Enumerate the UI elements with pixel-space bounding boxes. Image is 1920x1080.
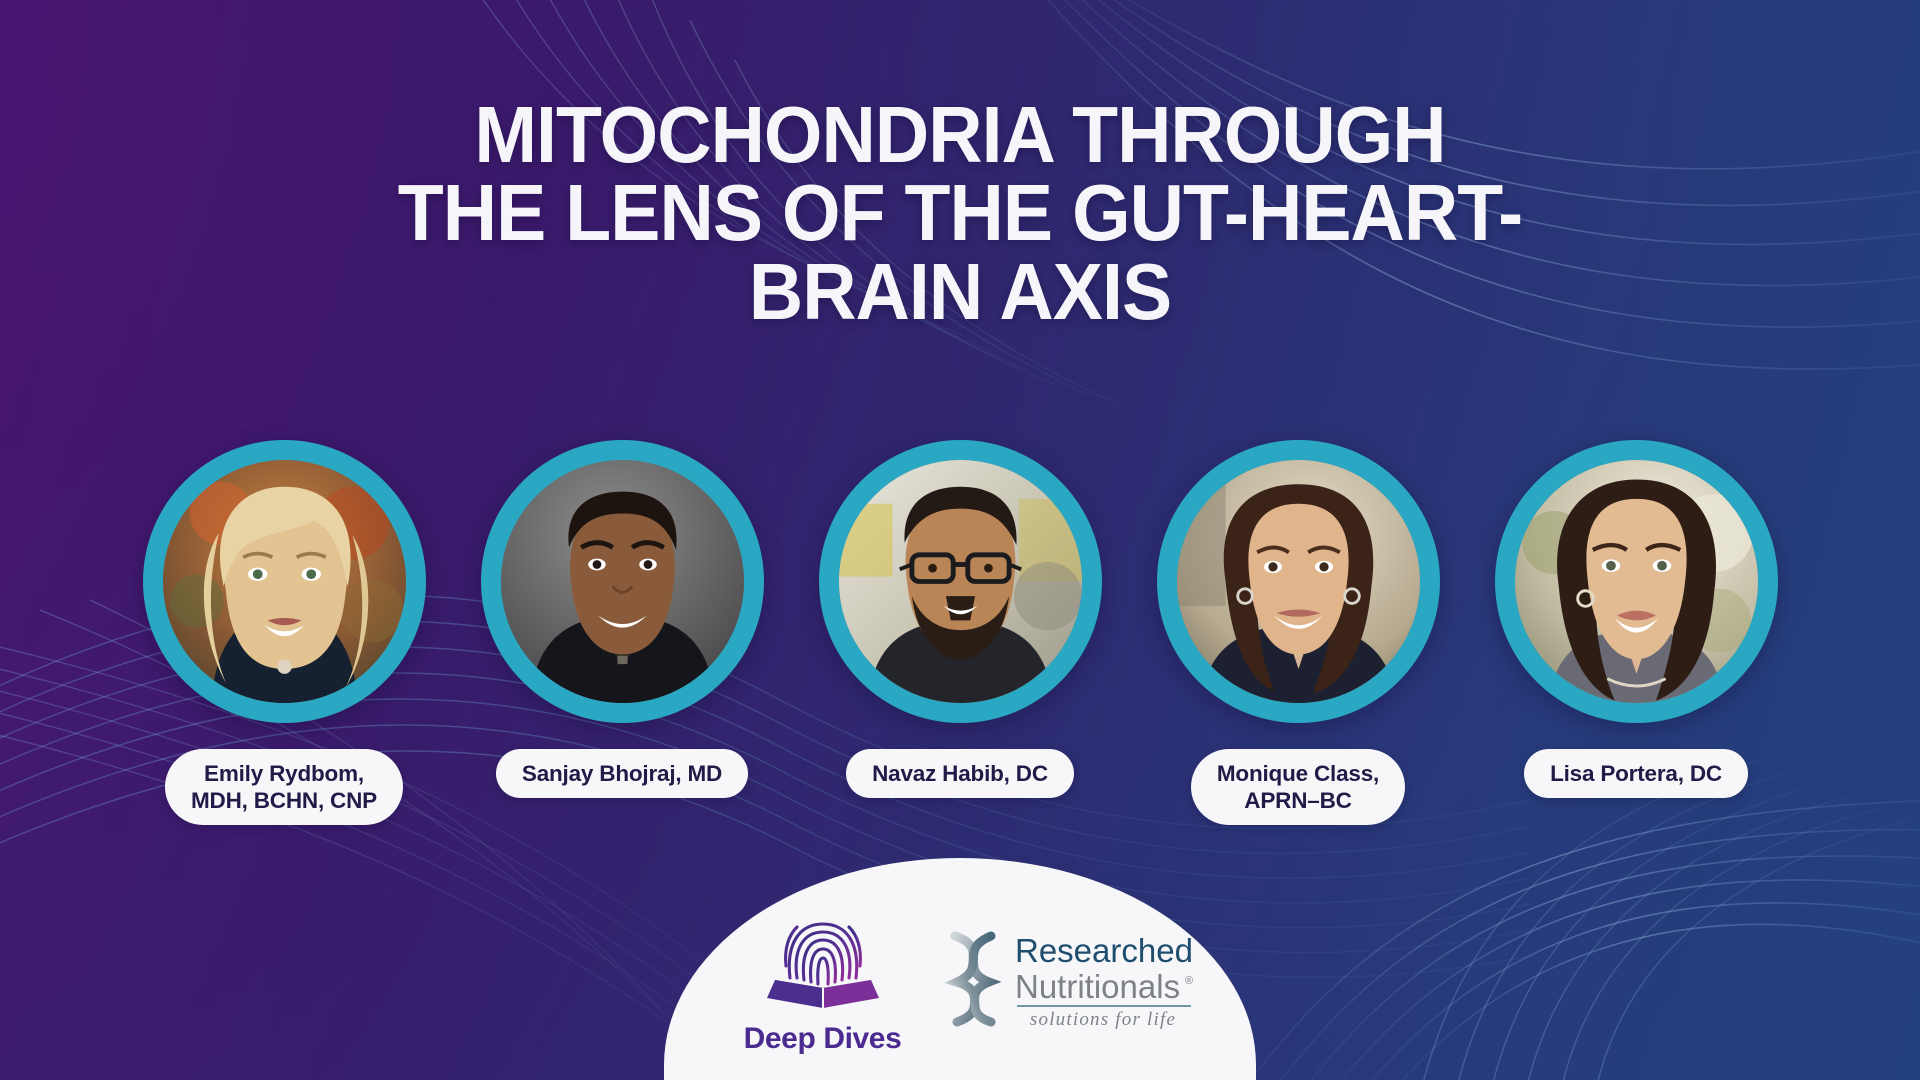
researched-nutritionals-logo: Researched Nutritionals ® solutions for … <box>943 918 1198 1038</box>
tagline: solutions for life <box>1029 1009 1175 1030</box>
speaker-name-pill: Emily Rydbom, MDH, BCHN, CNP <box>165 749 403 825</box>
deep-dives-logo: Deep Dives <box>723 900 923 1056</box>
banner-stage: MITOCHONDRIA THROUGH THE LENS OF THE GUT… <box>0 0 1920 1080</box>
speaker-name-pill: Monique Class, APRN–BC <box>1191 749 1405 825</box>
speaker-card-sanjay-bhojraj[interactable]: Sanjay Bhojraj, MD <box>477 440 767 798</box>
page-title-line-3: BRAIN AXIS <box>58 253 1863 331</box>
speaker-card-monique-class[interactable]: Monique Class, APRN–BC <box>1153 440 1443 825</box>
speaker-list: Emily Rydbom, MDH, BCHN, CNP <box>0 440 1920 825</box>
avatar-ring <box>1495 440 1778 723</box>
page-title: MITOCHONDRIA THROUGH THE LENS OF THE GUT… <box>58 96 1863 331</box>
avatar-ring <box>1157 440 1440 723</box>
avatar <box>1515 460 1758 703</box>
researched-word: Researched <box>1015 932 1193 969</box>
deep-dives-wordmark: Deep Dives <box>744 1022 902 1056</box>
avatar <box>1177 460 1420 703</box>
avatar <box>839 460 1082 703</box>
speaker-card-lisa-portera[interactable]: Lisa Portera, DC <box>1491 440 1781 798</box>
speaker-name-pill: Navaz Habib, DC <box>846 749 1074 798</box>
page-title-line-1: MITOCHONDRIA THROUGH <box>58 96 1863 174</box>
avatar <box>163 460 406 703</box>
avatar-ring <box>819 440 1102 723</box>
avatar <box>501 460 744 703</box>
avatar-ring <box>143 440 426 723</box>
registered-mark: ® <box>1185 975 1193 987</box>
speaker-card-navaz-habib[interactable]: Navaz Habib, DC <box>815 440 1105 798</box>
nutritionals-word: Nutritionals <box>1015 968 1180 1005</box>
avatar-ring <box>481 440 764 723</box>
page-title-line-2: THE LENS OF THE GUT-HEART- <box>58 174 1863 252</box>
fingerprint-over-open-book-icon <box>753 900 893 1018</box>
speaker-card-emily-rydbom[interactable]: Emily Rydbom, MDH, BCHN, CNP <box>139 440 429 825</box>
speaker-name-pill: Lisa Portera, DC <box>1524 749 1748 798</box>
speaker-name-pill: Sanjay Bhojraj, MD <box>496 749 748 798</box>
